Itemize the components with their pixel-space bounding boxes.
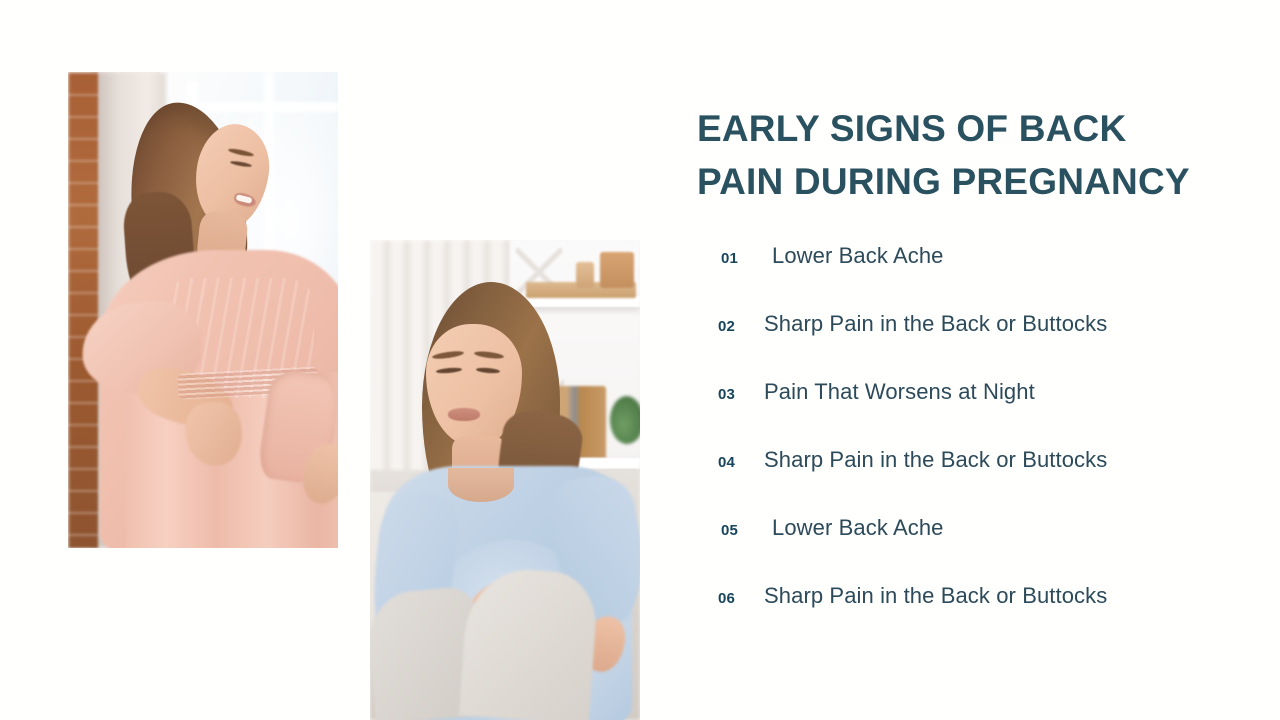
list-item-number: 05 <box>718 522 764 539</box>
list-item-label: Pain That Worsens at Night <box>764 379 1035 405</box>
list-item-label: Sharp Pain in the Back or Buttocks <box>764 447 1107 473</box>
slide-canvas: EARLY SIGNS OF BACK PAIN DURING PREGNANC… <box>0 0 1280 720</box>
list-item[interactable]: 05 Lower Back Ache <box>718 515 1238 583</box>
list-item-number: 02 <box>718 318 764 335</box>
list-item[interactable]: 01 Lower Back Ache <box>718 243 1238 311</box>
headline-line-2: PAIN DURING PREGNANCY <box>697 155 1243 208</box>
top-neckline <box>448 468 514 502</box>
pregnant-woman-pink-dress-photo <box>68 72 338 548</box>
list-item[interactable]: 03 Pain That Worsens at Night <box>718 379 1238 447</box>
list-item-number: 06 <box>718 590 764 607</box>
list-item[interactable]: 06 Sharp Pain in the Back or Buttocks <box>718 583 1238 651</box>
list-item-label: Lower Back Ache <box>764 515 943 541</box>
shelf-box <box>600 252 634 288</box>
shelf-jar <box>576 262 594 288</box>
signs-list: 01 Lower Back Ache 02 Sharp Pain in the … <box>718 243 1238 651</box>
headline-line-1: EARLY SIGNS OF BACK <box>697 102 1243 155</box>
brick-wall <box>68 72 98 548</box>
shelf-plant <box>610 396 640 444</box>
list-item-label: Lower Back Ache <box>764 243 943 269</box>
list-item-number: 03 <box>718 386 764 403</box>
page-title: EARLY SIGNS OF BACK PAIN DURING PREGNANC… <box>697 102 1243 208</box>
list-item[interactable]: 02 Sharp Pain in the Back or Buttocks <box>718 311 1238 379</box>
list-item[interactable]: 04 Sharp Pain in the Back or Buttocks <box>718 447 1238 515</box>
list-item-number: 04 <box>718 454 764 471</box>
pregnant-woman-blue-top-photo <box>370 240 640 720</box>
lips <box>448 408 480 421</box>
list-item-number: 01 <box>718 250 764 267</box>
list-item-label: Sharp Pain in the Back or Buttocks <box>764 311 1107 337</box>
list-item-label: Sharp Pain in the Back or Buttocks <box>764 583 1107 609</box>
headline: EARLY SIGNS OF BACK PAIN DURING PREGNANC… <box>697 102 1243 208</box>
